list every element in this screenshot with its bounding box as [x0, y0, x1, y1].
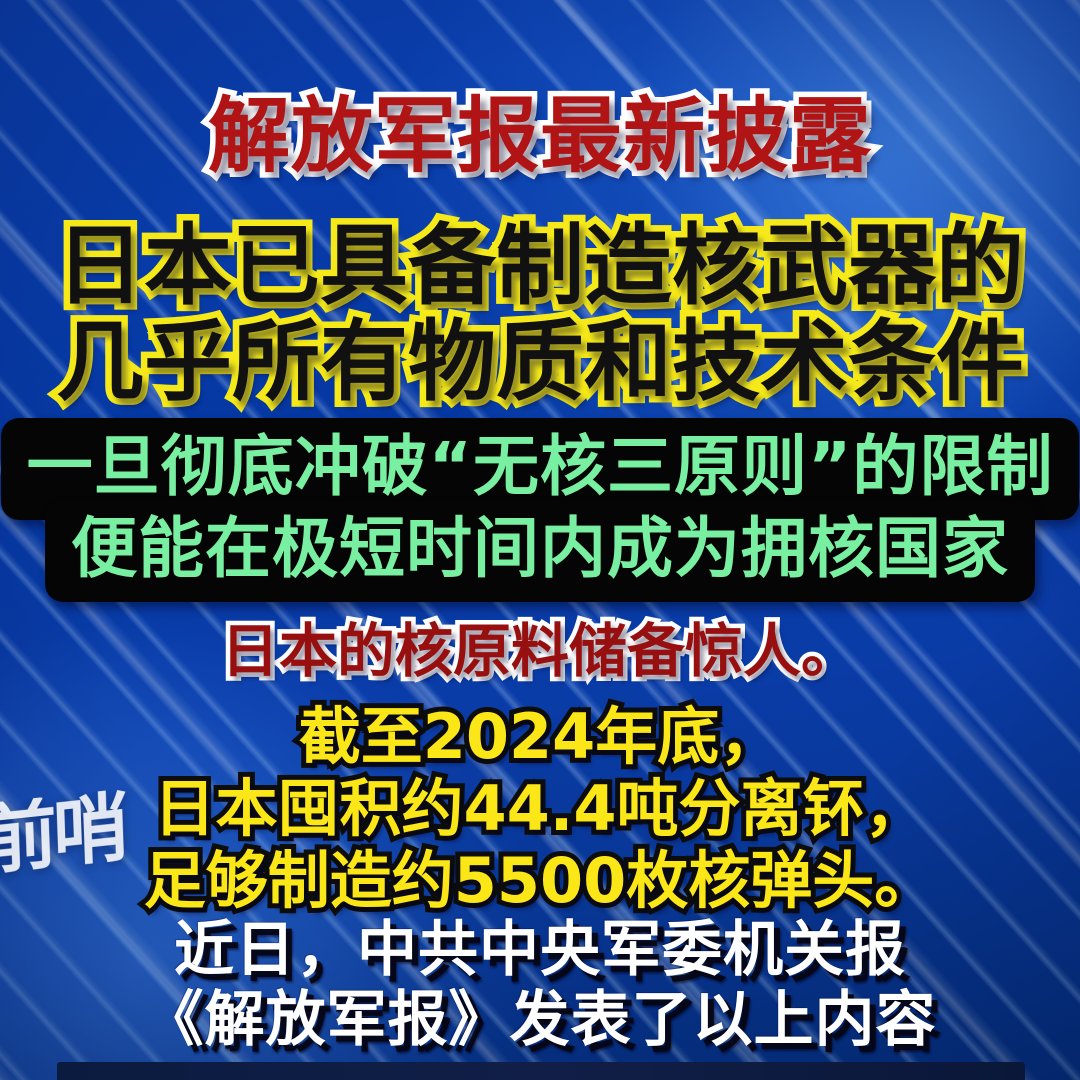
headline-line-2: 几乎所有物质和技术条件	[0, 318, 1080, 406]
bottom-bar	[57, 1062, 1025, 1080]
body-line-2: 截至2024年底，	[0, 706, 1080, 768]
body-line-4: 足够制造约5500枚核弹头。	[0, 850, 1080, 912]
headline-line-1: 日本已具备制造核武器的	[0, 222, 1080, 310]
poster-content: 解放军报最新披露 日本已具备制造核武器的 几乎所有物质和技术条件 一旦彻底冲破“…	[0, 0, 1080, 1080]
poster-title: 解放军报最新披露	[0, 96, 1080, 178]
body-line-5: 近日，中共中央军委机关报	[0, 920, 1080, 980]
highlight-banner-2: 便能在极短时间内成为拥核国家	[45, 500, 1035, 602]
body-line-1: 日本的核原料储备惊人。	[0, 622, 1080, 680]
poster-canvas: 前哨 解放军报最新披露 日本已具备制造核武器的 几乎所有物质和技术条件 一旦彻底…	[0, 0, 1080, 1080]
banner-row-2: 便能在极短时间内成为拥核国家	[0, 500, 1080, 602]
body-line-3: 日本囤积约44.4吨分离钚，	[0, 778, 1080, 840]
body-line-6: 《解放军报》发表了以上内容	[0, 990, 1080, 1050]
